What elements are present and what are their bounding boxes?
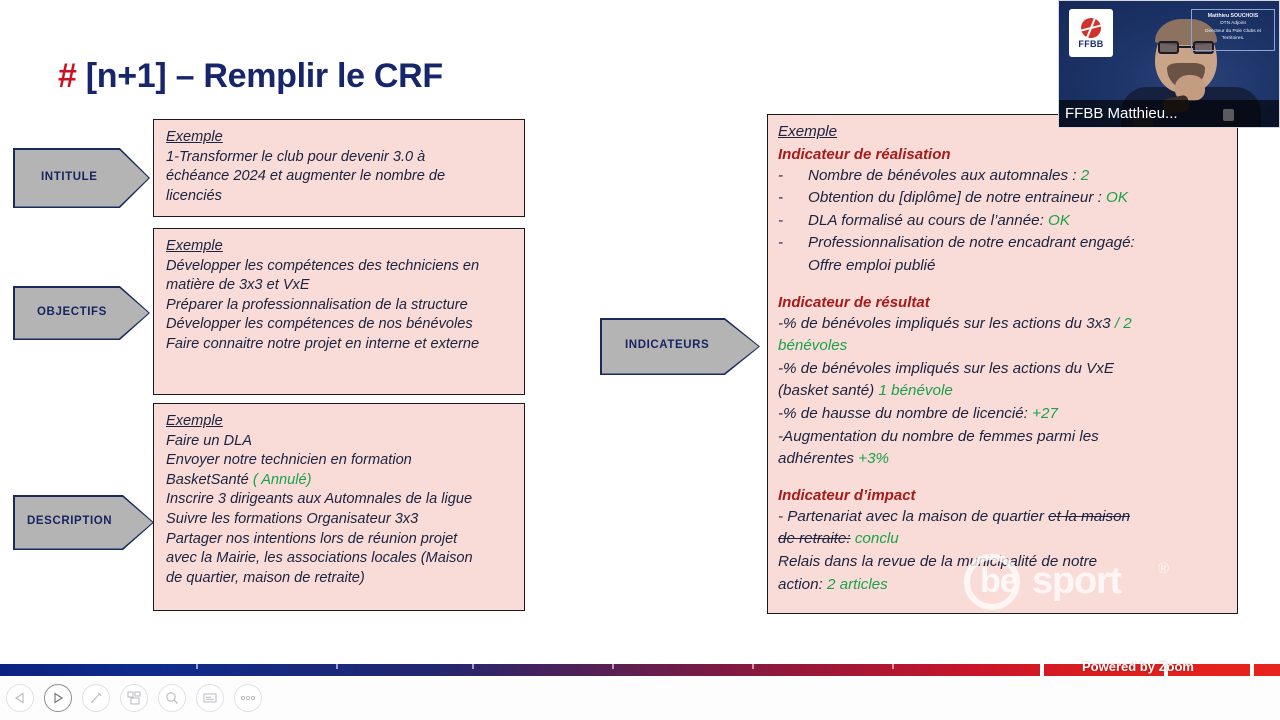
objectifs-line-3: Préparer la professionnalisation de la s… xyxy=(166,296,514,316)
intitule-line-1: 1-Transformer le club pour devenir 3.0 à xyxy=(166,148,514,168)
namecard-name: Matthieu SOUCHOIS xyxy=(1192,13,1274,20)
description-line-6: avec la Mairie, les associations locales… xyxy=(166,549,514,569)
progress-tick xyxy=(336,664,338,669)
impact-line-1: - Partenariat avec la maison de quartier… xyxy=(778,506,1227,529)
namecard-title-line-2: Territoires. xyxy=(1192,35,1274,42)
ffbb-logo-text: FFBB xyxy=(1078,39,1103,49)
sidebar-item-objectifs[interactable]: OBJECTIFS xyxy=(37,306,107,318)
realisation-item-4: - Professionnalisation de notre encadran… xyxy=(778,232,1227,255)
description-line-1: Faire un DLA xyxy=(166,432,514,452)
realisation-item-5: Offre emploi publié xyxy=(778,255,1227,278)
resultat-line-1-label: -% de bénévoles impliqués sur les action… xyxy=(778,315,1115,332)
namecard-role: DTN Adjoint xyxy=(1192,20,1274,27)
screen: # [n+1] – Remplir le CRF INTITULE OBJECT… xyxy=(0,0,1280,720)
objectifs-content-box: Exemple Développer les compétences des t… xyxy=(153,228,525,395)
resultat-line-5-label: -% de hausse du nombre de licencié: xyxy=(778,405,1032,422)
description-content-box: Exemple Faire un DLA Envoyer notre techn… xyxy=(153,403,525,611)
caption-icon xyxy=(203,691,217,705)
zoom-button[interactable] xyxy=(158,684,186,712)
annotate-button[interactable] xyxy=(82,684,110,712)
powered-by-label: Powered by Zoom xyxy=(1082,659,1194,674)
intitule-content-box: Exemple 1-Transformer le club pour deven… xyxy=(153,119,525,217)
participant-name-strip: FFBB Matthieu... xyxy=(1059,100,1279,127)
realisation-item-3-value: OK xyxy=(1048,212,1070,229)
description-heading: Exemple xyxy=(166,412,223,432)
impact-line-1-label: - Partenariat avec la maison de quartier xyxy=(778,508,1048,525)
realisation-item-3-text: DLA formalisé au cours de l’année: OK xyxy=(808,210,1227,233)
realisation-item-2-label: Obtention du [diplôme] de notre entraine… xyxy=(808,189,1106,206)
realisation-item-5-text: Offre emploi publié xyxy=(808,255,1227,278)
resultat-line-7-value: +3% xyxy=(858,450,889,467)
layout-button[interactable] xyxy=(120,684,148,712)
description-line-5: Partager nos intentions lors de réunion … xyxy=(166,530,514,550)
triangle-right-icon xyxy=(52,692,64,704)
objectifs-line-2: matière de 3x3 et VxE xyxy=(166,276,514,296)
realisation-item-4-text: Professionnalisation de notre encadrant … xyxy=(808,232,1227,255)
resultat-line-3: -% de bénévoles impliqués sur les action… xyxy=(778,358,1227,381)
indicateurs-heading: Exemple xyxy=(778,121,837,144)
section-spacer xyxy=(778,471,1227,485)
grid-icon xyxy=(127,691,141,705)
resultat-line-2-value: bénévoles xyxy=(778,335,1227,358)
progress-tick xyxy=(472,664,474,669)
realisation-item-1-label: Nombre de bénévoles aux automnales : xyxy=(808,167,1081,184)
objectifs-heading: Exemple xyxy=(166,237,223,257)
description-line-4: Suivre les formations Organisateur 3x3 xyxy=(166,510,514,530)
page-title: # [n+1] – Remplir le CRF xyxy=(58,57,443,96)
description-line-2: Envoyer notre technicien en formation xyxy=(166,451,514,471)
impact-line-2-strikethrough: de retraite: xyxy=(778,530,851,547)
indicateur-resultat-title: Indicateur de résultat xyxy=(778,292,1227,313)
impact-line-4-label: action: xyxy=(778,576,827,593)
intitule-line-3: licenciés xyxy=(166,187,514,207)
progress-tick xyxy=(892,664,894,669)
basketball-icon xyxy=(1081,18,1101,38)
namecard-title-line: Directeur du Pole Clubs et xyxy=(1192,28,1274,35)
progress-tick xyxy=(752,664,754,669)
player-toolbar xyxy=(0,676,1280,720)
progress-segment-gap xyxy=(1250,664,1254,676)
description-basketsante-status: ( Annulé) xyxy=(249,472,312,488)
realisation-item-3-label: DLA formalisé au cours de l’année: xyxy=(808,212,1048,229)
ellipsis-icon xyxy=(240,694,256,702)
impact-line-3: Relais dans la revue de la municipalité … xyxy=(778,551,1227,574)
pen-icon xyxy=(89,691,103,705)
description-basketsante-row: BasketSanté ( Annulé) xyxy=(166,471,514,491)
indicateur-impact-title: Indicateur d’impact xyxy=(778,485,1227,506)
realisation-item-2-value: OK xyxy=(1106,189,1128,206)
resultat-line-1-value: / 2 xyxy=(1115,315,1132,332)
glasses-left-lens xyxy=(1158,41,1179,54)
objectifs-line-4: Développer les compétences de nos bénévo… xyxy=(166,315,514,335)
indicateurs-content-box: Exemple Indicateur de réalisation - Nomb… xyxy=(767,114,1238,614)
progress-tick xyxy=(612,664,614,669)
sidebar-item-indicateurs[interactable]: INDICATEURS xyxy=(625,339,709,351)
description-line-7: de quartier, maison de retraite) xyxy=(166,569,514,589)
title-hash: # xyxy=(58,57,77,95)
realisation-item-3: - DLA formalisé au cours de l’année: OK xyxy=(778,210,1227,233)
intitule-line-2: échéance 2024 et augmenter le nombre de xyxy=(166,167,514,187)
title-text: [n+1] – Remplir le CRF xyxy=(77,57,443,95)
intitule-heading: Exemple xyxy=(166,128,223,148)
resultat-line-5-value: +27 xyxy=(1032,405,1058,422)
objectifs-line-5: Faire connaitre notre projet en interne … xyxy=(166,335,514,355)
impact-line-1-strikethrough: et la maison xyxy=(1048,508,1130,525)
section-spacer xyxy=(778,278,1227,292)
progress-tick xyxy=(196,664,198,669)
participant-video-tile[interactable]: FFBB Matthieu SOUCHOIS DTN Adjoint Direc… xyxy=(1058,0,1280,128)
resultat-line-6: -Augmentation du nombre de femmes parmi … xyxy=(778,426,1227,449)
dash-marker: - xyxy=(778,210,808,233)
resultat-line-7: adhérentes +3% xyxy=(778,448,1227,471)
play-button[interactable] xyxy=(44,684,72,712)
objectifs-line-1: Développer les compétences des technicie… xyxy=(166,257,514,277)
ffbb-logo: FFBB xyxy=(1069,9,1113,57)
magnifier-icon xyxy=(165,691,179,705)
sidebar-item-intitule[interactable]: INTITULE xyxy=(41,171,98,183)
resultat-line-1: -% de bénévoles impliqués sur les action… xyxy=(778,313,1227,336)
dash-marker: - xyxy=(778,165,808,188)
resultat-line-4: (basket santé) 1 bénévole xyxy=(778,380,1227,403)
realisation-item-1: - Nombre de bénévoles aux automnales : 2 xyxy=(778,165,1227,188)
speaker-namecard: Matthieu SOUCHOIS DTN Adjoint Directeur … xyxy=(1191,9,1275,51)
realisation-item-1-value: 2 xyxy=(1081,167,1089,184)
realisation-item-2: - Obtention du [diplôme] de notre entrai… xyxy=(778,187,1227,210)
impact-line-2-value: conclu xyxy=(851,530,899,547)
realisation-item-1-text: Nombre de bénévoles aux automnales : 2 xyxy=(808,165,1227,188)
indicateur-realisation-title: Indicateur de réalisation xyxy=(778,144,1227,165)
resultat-line-5: -% de hausse du nombre de licencié: +27 xyxy=(778,403,1227,426)
resultat-line-7-label: adhérentes xyxy=(778,450,858,467)
resultat-line-4-value: 1 bénévole xyxy=(878,382,952,399)
impact-line-4-value: 2 articles xyxy=(827,576,888,593)
realisation-item-2-text: Obtention du [diplôme] de notre entraine… xyxy=(808,187,1227,210)
triangle-left-icon xyxy=(14,692,26,704)
description-line-3: Inscrire 3 dirigeants aux Automnales de … xyxy=(166,490,514,510)
impact-line-4: action: 2 articles xyxy=(778,574,1227,597)
previous-button[interactable] xyxy=(6,684,34,712)
participant-name-label: FFBB Matthieu... xyxy=(1059,105,1178,122)
progress-segment-gap xyxy=(1040,664,1044,676)
more-button[interactable] xyxy=(234,684,262,712)
resultat-line-4-label: (basket santé) xyxy=(778,382,878,399)
captions-button[interactable] xyxy=(196,684,224,712)
description-basketsante-label: BasketSanté xyxy=(166,472,249,488)
impact-line-2: de retraite: conclu xyxy=(778,528,1227,551)
dash-marker: - xyxy=(778,187,808,210)
sidebar-item-description[interactable]: DESCRIPTION xyxy=(27,515,112,527)
dash-marker: - xyxy=(778,232,808,255)
